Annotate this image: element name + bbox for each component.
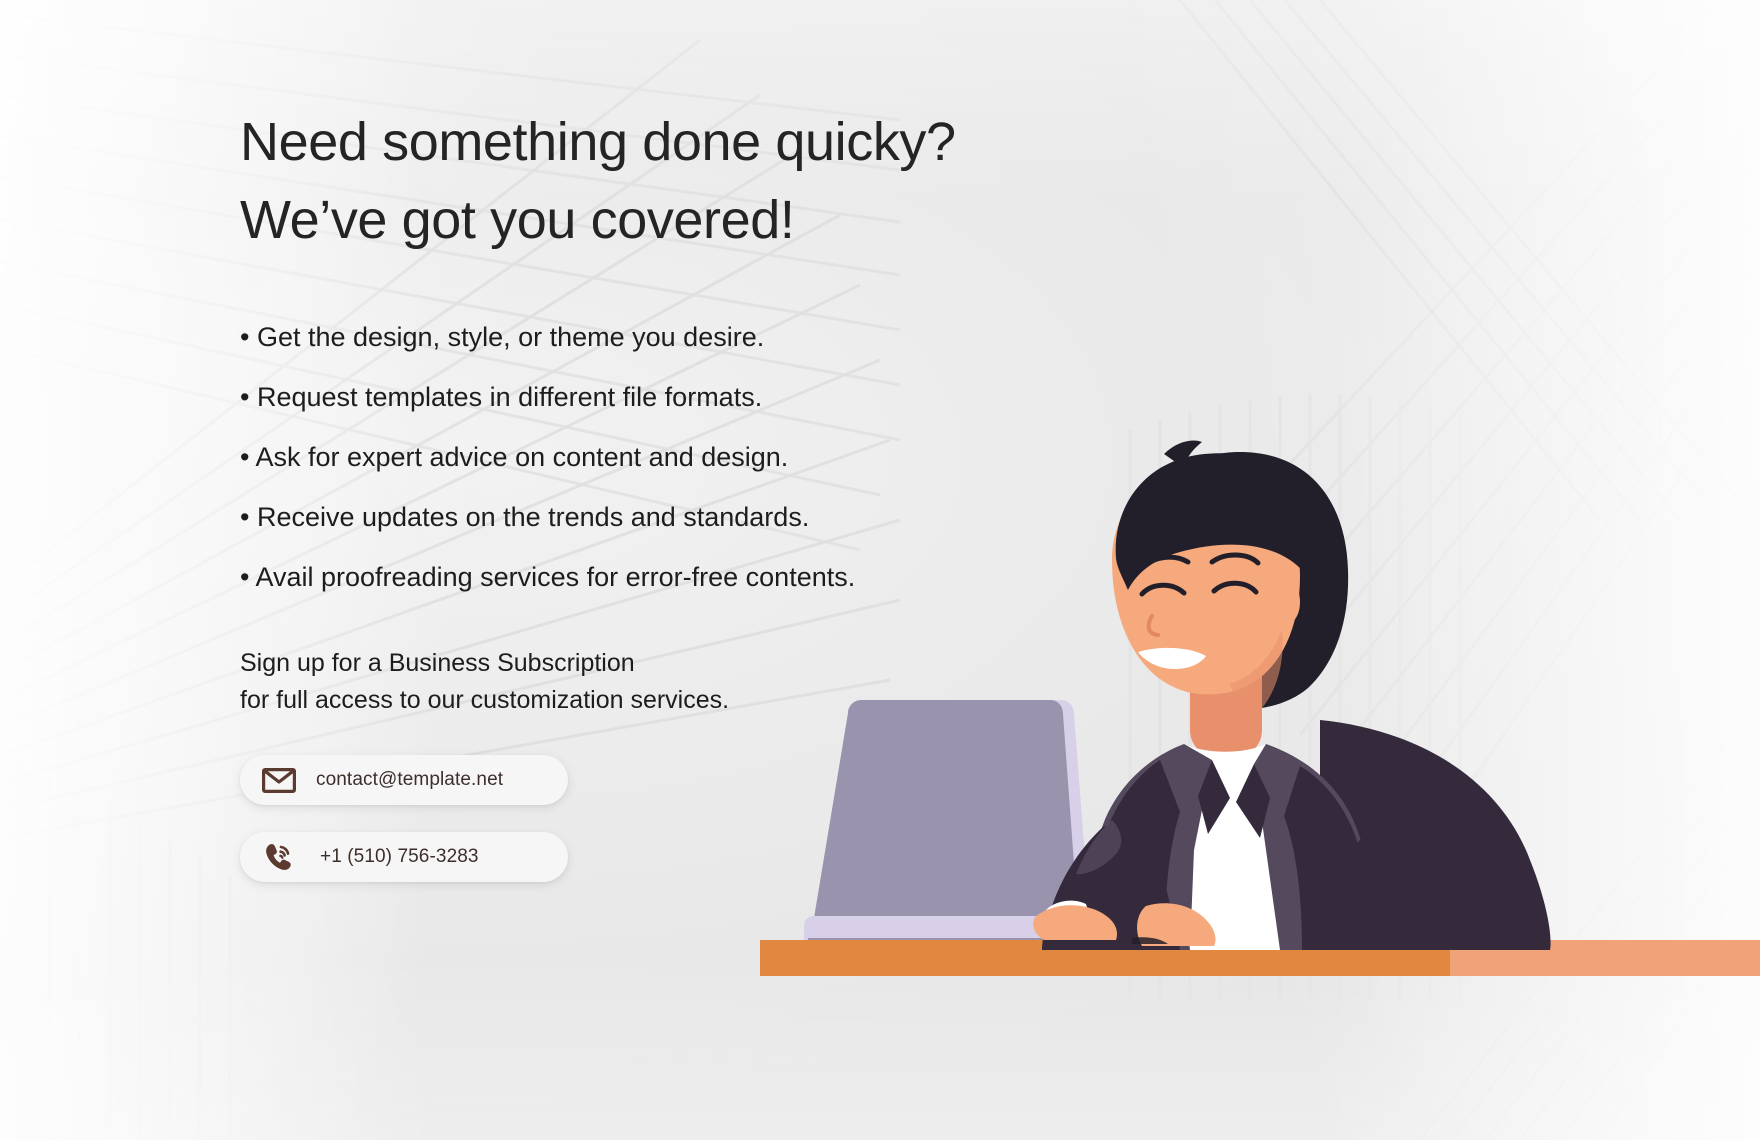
slide-canvas: Need something done quicky? We’ve got yo… [0,0,1760,1140]
laptop-lid [814,700,1090,922]
contact-phone-pill[interactable]: +1 (510) 756-3283 [240,832,568,882]
contact-phone-value: +1 (510) 756-3283 [320,846,479,868]
page-title: Need something done quicky? We’ve got yo… [240,104,1040,259]
contact-email-pill[interactable]: contact@template.net [240,755,568,805]
businessman-at-laptop-illustration [760,430,1760,1140]
envelope-icon [258,768,300,793]
contact-email-value: contact@template.net [316,769,503,791]
list-item: • Request templates in different file fo… [240,381,1040,413]
list-item: • Get the design, style, or theme you de… [240,321,1040,353]
person [1033,441,1550,951]
phone-icon [258,841,300,873]
headline-line-2: We’ve got you covered! [240,182,1040,259]
headline-line-1: Need something done quicky? [240,112,956,172]
